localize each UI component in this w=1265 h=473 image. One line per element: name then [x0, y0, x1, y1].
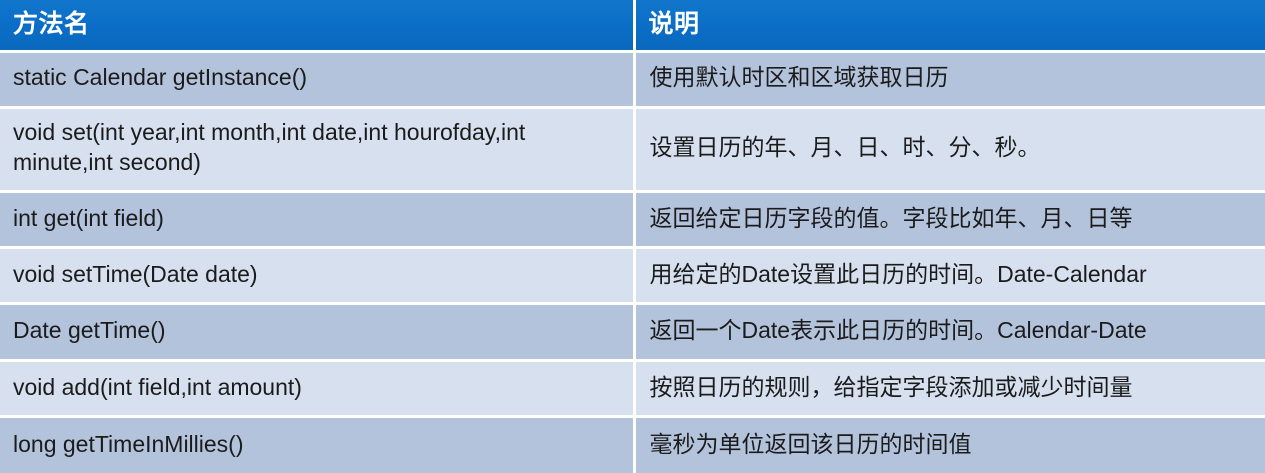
- table-row: void setTime(Date date)用给定的Date设置此日历的时间。…: [0, 248, 1265, 304]
- column-header-description: 说明: [634, 0, 1265, 51]
- table-row: void add(int field,int amount)按照日历的规则，给指…: [0, 360, 1265, 416]
- table-row: static Calendar getInstance()使用默认时区和区域获取…: [0, 51, 1265, 107]
- cell-method: void set(int year,int month,int date,int…: [0, 107, 634, 191]
- cell-description: 毫秒为单位返回该日历的时间值: [634, 417, 1265, 473]
- cell-description: 使用默认时区和区域获取日历: [634, 51, 1265, 107]
- cell-description: 返回给定日历字段的值。字段比如年、月、日等: [634, 191, 1265, 247]
- table-row: long getTimeInMillies()毫秒为单位返回该日历的时间值: [0, 417, 1265, 473]
- table-row: void set(int year,int month,int date,int…: [0, 107, 1265, 191]
- cell-method: int get(int field): [0, 191, 634, 247]
- cell-description: 用给定的Date设置此日历的时间。Date-Calendar: [634, 248, 1265, 304]
- cell-method: void add(int field,int amount): [0, 360, 634, 416]
- cell-description: 按照日历的规则，给指定字段添加或减少时间量: [634, 360, 1265, 416]
- table-row: int get(int field)返回给定日历字段的值。字段比如年、月、日等: [0, 191, 1265, 247]
- column-header-method: 方法名: [0, 0, 634, 51]
- table-header-row: 方法名 说明: [0, 0, 1265, 51]
- table-row: Date getTime()返回一个Date表示此日历的时间。Calendar-…: [0, 304, 1265, 360]
- cell-method: static Calendar getInstance(): [0, 51, 634, 107]
- cell-method: long getTimeInMillies(): [0, 417, 634, 473]
- cell-method: Date getTime(): [0, 304, 634, 360]
- cell-method: void setTime(Date date): [0, 248, 634, 304]
- cell-description: 返回一个Date表示此日历的时间。Calendar-Date: [634, 304, 1265, 360]
- cell-description: 设置日历的年、月、日、时、分、秒。: [634, 107, 1265, 191]
- table-body: static Calendar getInstance()使用默认时区和区域获取…: [0, 51, 1265, 473]
- table-header: 方法名 说明: [0, 0, 1265, 51]
- calendar-methods-table: 方法名 说明 static Calendar getInstance()使用默认…: [0, 0, 1265, 473]
